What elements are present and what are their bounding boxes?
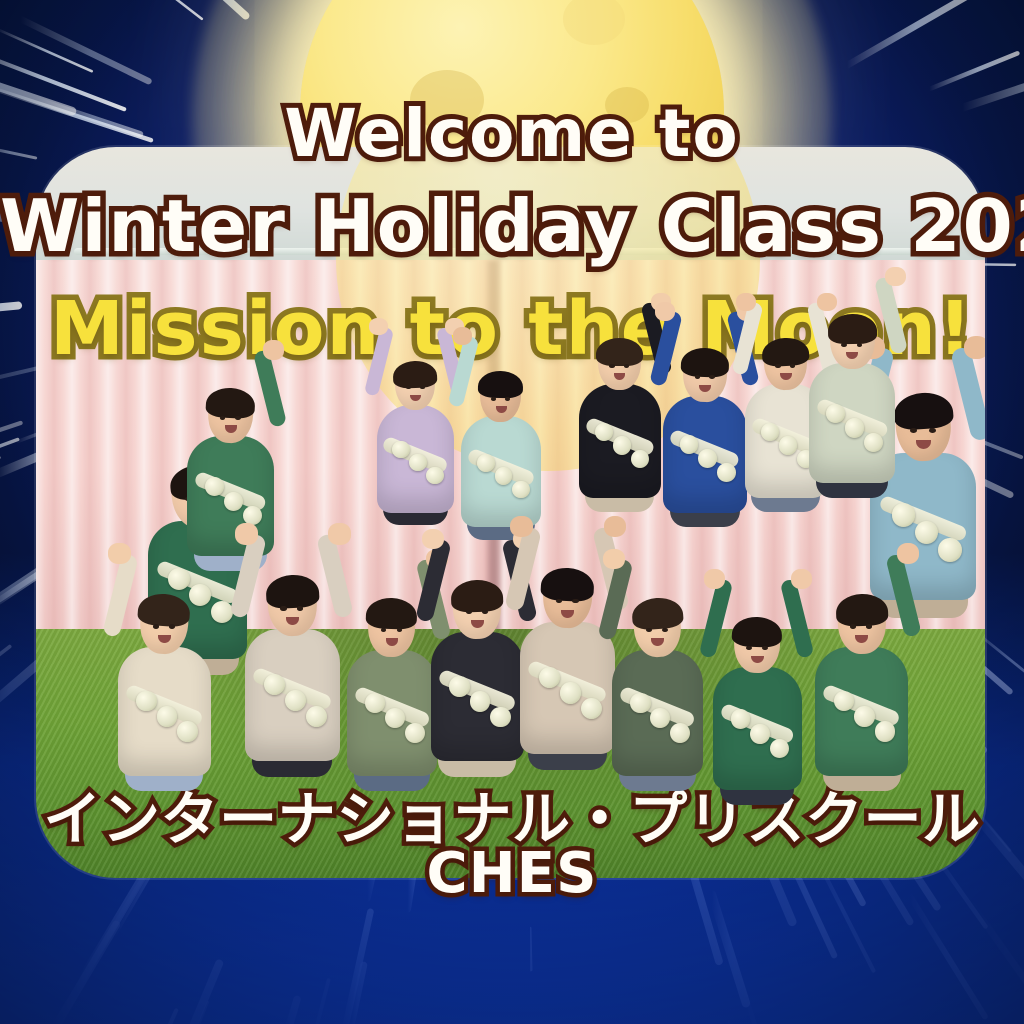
paper-medal [136,691,157,712]
paper-medal [405,723,425,743]
paper-medal [385,708,405,728]
person-fist [817,293,837,311]
person-eye [153,624,159,628]
paper-medal [613,436,631,454]
person-fist [885,267,906,286]
person-eye [572,599,578,603]
paper-medal [477,454,495,472]
person-fist [369,318,388,335]
paper-medal [426,467,443,484]
school-abbreviation: CHES [0,845,1024,903]
person-eye [220,416,226,420]
paper-medal [731,709,751,729]
paper-medal [306,706,327,727]
person-fist [108,543,130,564]
person-eye [491,397,496,401]
paper-medal [630,693,650,713]
headline-line-1: Welcome to [0,101,1024,167]
paper-medal [264,674,285,695]
person-fist [453,327,472,345]
paper-medal [409,454,426,471]
person-fist [510,516,533,537]
paper-medal [854,706,875,727]
paper-medal [168,568,190,590]
paper-medal [157,706,178,727]
person-fist [655,302,675,321]
person-fist [964,336,985,360]
paper-medal [495,467,513,485]
person-eye [775,364,780,368]
person-eye [505,397,510,401]
headline-line-2: Winter Holiday Class 2025 [0,190,1024,262]
poster-canvas: Welcome to Winter Holiday Class 2025 Mis… [0,0,1024,1024]
person-eye [857,343,863,347]
person-fist [736,293,756,311]
person-eye [482,610,488,614]
paper-medal [938,538,962,562]
person-eye [235,416,241,420]
person-fist [604,516,627,537]
paper-medal [845,418,864,437]
paper-medal [698,449,717,468]
person-fist [897,543,919,564]
person-mouth [158,635,171,643]
person-eye [850,624,856,628]
person-fist [704,569,725,589]
paper-medal [365,693,385,713]
person-fist [791,569,812,589]
paper-medal [539,667,560,688]
person-fist [422,529,444,550]
paper-medal [560,682,581,703]
paper-medal [177,721,198,742]
person-hair [596,338,643,366]
person-eye [280,606,286,610]
paper-medal [512,481,530,499]
person-fist [603,549,625,569]
paper-medal [243,506,262,525]
person-mouth [225,425,237,432]
person-eye [609,364,614,368]
person-eye [841,343,847,347]
paper-medal [892,503,916,527]
paper-medal [717,463,736,482]
paper-medal [224,492,243,511]
person-fist [263,340,284,359]
person-eye [556,599,562,603]
paper-medal [595,423,613,441]
paper-medal [211,601,233,623]
person-fist [328,523,351,544]
paper-medal [761,423,779,441]
person-eye [762,646,768,650]
paper-medal [449,676,470,697]
paper-medal [205,477,224,496]
person-fist [235,523,258,544]
person-eye [910,428,917,433]
paper-medal [285,690,306,711]
paper-medal [779,436,797,454]
person-hair [827,314,876,345]
paper-medal [392,441,409,458]
person-eye [297,606,303,610]
person-eye [929,428,936,433]
paper-medal [750,724,770,744]
person-mouth [496,406,507,413]
person-eye [169,624,175,628]
person-eye [466,610,472,614]
